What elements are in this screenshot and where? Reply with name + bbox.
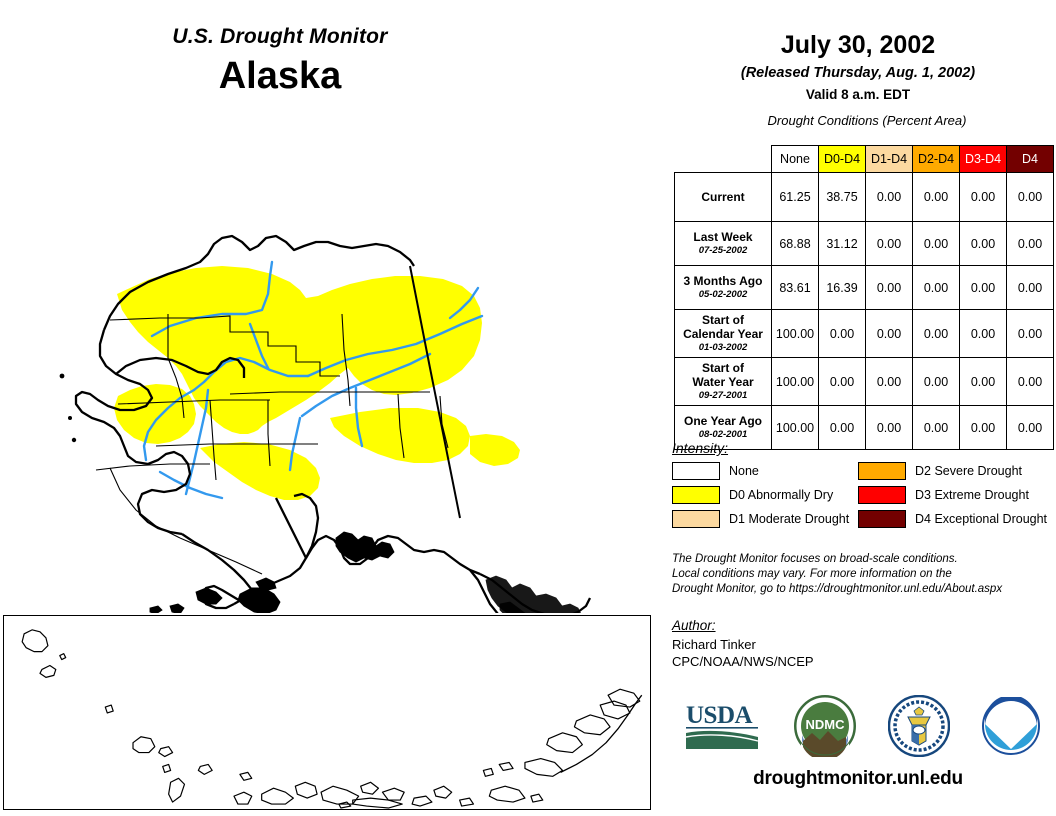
andreanof-2: [240, 772, 252, 780]
amchitka-island: [169, 778, 185, 802]
agattu-island: [40, 665, 56, 677]
cell-none: 100.00: [772, 358, 819, 406]
legend-item-none[interactable]: None: [672, 462, 858, 480]
d0-region-panhandle: [470, 434, 520, 466]
aleutian-islands-map: [4, 616, 650, 809]
cell-none: 83.61: [772, 266, 819, 310]
cell-d4: 0.00: [1007, 266, 1054, 310]
ak-pen-piece-4: [600, 701, 630, 719]
usda-logo: USDA: [684, 697, 762, 755]
table-row: 3 Months Ago05-02-200283.6116.390.000.00…: [675, 266, 1054, 310]
cell-d3-d4: 0.00: [960, 358, 1007, 406]
andreanof-4: [361, 782, 379, 794]
legend-label-d4: D4 Exceptional Drought: [915, 512, 1047, 526]
row-label-line: Current: [677, 190, 769, 204]
row-label-date: 07-25-2002: [677, 245, 769, 257]
fox-dot-2: [339, 802, 351, 808]
near-dot-1: [60, 654, 66, 660]
date-block: July 30, 2002 (Released Thursday, Aug. 1…: [660, 0, 1056, 104]
row-label-line: Water Year: [677, 375, 769, 389]
legend-item-d0[interactable]: D0 Abnormally Dry: [672, 486, 858, 504]
rat-dot-3: [163, 764, 171, 772]
table-row: Current61.2538.750.000.000.000.00: [675, 173, 1054, 222]
pribilof-1: [483, 768, 493, 776]
legend-swatch-d3: [858, 486, 906, 504]
col-header-d4: D4: [1007, 146, 1054, 173]
cell-d4: 0.00: [1007, 173, 1054, 222]
map-norton-islands: [60, 374, 77, 443]
cell-d2-d4: 0.00: [913, 222, 960, 266]
legend-swatch-d2: [858, 462, 906, 480]
row-label: Current: [675, 173, 772, 222]
fox-dot-1: [412, 796, 432, 806]
row-label-date: 01-03-2002: [677, 342, 769, 354]
cell-d1-d4: 0.00: [866, 358, 913, 406]
map-panel: U.S. Drought Monitor Alaska: [0, 0, 660, 816]
ndmc-logo: NDMC: [794, 695, 856, 757]
unimak-island: [489, 786, 525, 802]
table-row: Start ofCalendar Year01-03-2002100.000.0…: [675, 310, 1054, 358]
cell-d3-d4: 0.00: [960, 173, 1007, 222]
noaa-logo: NOAA: [982, 697, 1040, 755]
intensity-legend: Intensity: NoneD2 Severe DroughtD0 Abnor…: [672, 440, 1052, 528]
row-label: Start ofCalendar Year01-03-2002: [675, 310, 772, 358]
kodiak-island: [238, 588, 280, 613]
col-header-none: None: [772, 146, 819, 173]
andreanof-1: [234, 792, 252, 804]
legend-label-none: None: [729, 464, 759, 478]
cell-d2-d4: 0.00: [913, 310, 960, 358]
disclaimer-text: The Drought Monitor focuses on broad-sca…: [672, 552, 1052, 597]
legend-title: Intensity:: [672, 440, 1052, 456]
legend-item-d3[interactable]: D3 Extreme Drought: [858, 486, 1044, 504]
chain-dot-1: [170, 604, 184, 613]
cell-d2-d4: 0.00: [913, 173, 960, 222]
row-label-line: Last Week: [677, 230, 769, 244]
cell-d1-d4: 0.00: [866, 266, 913, 310]
fox-dot-3: [460, 798, 474, 806]
cell-d0-d4: 38.75: [819, 173, 866, 222]
internal-borders-peninsula: [180, 538, 262, 574]
kiska-island: [133, 737, 155, 753]
legend-swatch-none: [672, 462, 720, 480]
d0-region-gulfcoast: [330, 408, 470, 463]
alaska-map[interactable]: [0, 118, 660, 613]
legend-label-d0: D0 Abnormally Dry: [729, 488, 833, 502]
table-row: Start ofWater Year09-27-2001100.000.000.…: [675, 358, 1054, 406]
row-label: 3 Months Ago05-02-2002: [675, 266, 772, 310]
table-row: Last Week07-25-200268.8831.120.000.000.0…: [675, 222, 1054, 266]
agency-logos: USDA NDMC: [668, 692, 1056, 760]
cell-d4: 0.00: [1007, 358, 1054, 406]
map-panhandle-detail: [486, 576, 582, 613]
island-st-lawrence-a: [60, 374, 65, 379]
table-header-row: None D0-D4 D1-D4 D2-D4 D3-D4 D4: [675, 146, 1054, 173]
page-title: U.S. Drought Monitor: [0, 24, 560, 50]
table-body: Current61.2538.750.000.000.000.00Last We…: [675, 173, 1054, 450]
pribilof-2: [499, 762, 513, 770]
row-label-date: 09-27-2001: [677, 390, 769, 402]
coast-kenai: [294, 494, 318, 558]
drought-conditions-table: None D0-D4 D1-D4 D2-D4 D3-D4 D4 Current6…: [674, 145, 1054, 450]
fox-dot-4: [531, 794, 543, 802]
row-label-line: Calendar Year: [677, 327, 769, 341]
rat-dot-4: [198, 764, 212, 774]
cell-d3-d4: 0.00: [960, 310, 1007, 358]
legend-label-d1: D1 Moderate Drought: [729, 512, 849, 526]
col-header-d2: D2-D4: [913, 146, 960, 173]
legend-item-d1[interactable]: D1 Moderate Drought: [672, 510, 858, 528]
rat-dot-2: [159, 747, 173, 757]
row-label-line: 3 Months Ago: [677, 274, 769, 288]
map-title-block: U.S. Drought Monitor Alaska: [0, 24, 560, 100]
svg-text:USDA: USDA: [686, 702, 753, 729]
cell-none: 61.25: [772, 173, 819, 222]
adak-island: [262, 788, 294, 804]
map-drought-areas: [114, 266, 520, 500]
report-date: July 30, 2002: [660, 30, 1056, 60]
legend-swatch-d0: [672, 486, 720, 504]
row-label-line: One Year Ago: [677, 414, 769, 428]
usdc-logo: [888, 695, 950, 757]
cell-d1-d4: 0.00: [866, 310, 913, 358]
disclaimer-line-2: Local conditions may vary. For more info…: [672, 567, 1052, 582]
col-header-d0: D0-D4: [819, 146, 866, 173]
alaska-pen-tip: [196, 588, 222, 604]
legend-swatch-d1: [672, 510, 720, 528]
info-panel: July 30, 2002 (Released Thursday, Aug. 1…: [660, 0, 1056, 816]
col-header-d3: D3-D4: [960, 146, 1007, 173]
island-nunivak: [72, 438, 76, 442]
row-label-line: Start of: [677, 313, 769, 327]
author-block: Author: Richard Tinker CPC/NOAA/NWS/NCEP: [672, 617, 814, 670]
island-st-lawrence-b: [68, 416, 72, 420]
table-caption: Drought Conditions (Percent Area): [660, 113, 1056, 128]
akutan-island: [434, 786, 452, 798]
author-name: Richard Tinker: [672, 636, 814, 653]
cell-d4: 0.00: [1007, 222, 1054, 266]
row-label-line: Start of: [677, 361, 769, 375]
d0-region-southcentral: [200, 442, 320, 500]
attu-island: [22, 630, 48, 652]
cell-d0-d4: 31.12: [819, 222, 866, 266]
aleutian-inset-box[interactable]: [3, 615, 651, 810]
cell-none: 100.00: [772, 310, 819, 358]
row-label-date: 05-02-2002: [677, 289, 769, 301]
table-header: None D0-D4 D1-D4 D2-D4 D3-D4 D4: [675, 146, 1054, 173]
row-label: Last Week07-25-2002: [675, 222, 772, 266]
unalaska-island: [382, 788, 404, 800]
svg-text:NOAA: NOAA: [996, 710, 1026, 721]
coast-cook-inlet: [276, 498, 306, 558]
andreanof-3: [295, 782, 317, 798]
disclaimer-line-3: Drought Monitor, go to https://droughtmo…: [672, 582, 1052, 597]
legend-label-d2: D2 Severe Drought: [915, 464, 1022, 478]
rat-dot-1: [105, 705, 113, 713]
author-title: Author:: [672, 617, 814, 634]
svg-text:NDMC: NDMC: [806, 717, 846, 732]
legend-swatch-d4: [858, 510, 906, 528]
website-url[interactable]: droughtmonitor.unl.edu: [660, 768, 1056, 790]
author-affiliation: CPC/NOAA/NWS/NCEP: [672, 653, 814, 670]
cell-none: 68.88: [772, 222, 819, 266]
cell-d0-d4: 0.00: [819, 310, 866, 358]
state-title: Alaska: [0, 52, 560, 100]
legend-item-d2[interactable]: D2 Severe Drought: [858, 462, 1044, 480]
release-date: (Released Thursday, Aug. 1, 2002): [660, 63, 1056, 83]
cell-d1-d4: 0.00: [866, 222, 913, 266]
cell-d3-d4: 0.00: [960, 222, 1007, 266]
ak-pen-piece-1: [525, 759, 563, 777]
cell-d0-d4: 16.39: [819, 266, 866, 310]
ak-pen-piece-2: [547, 733, 583, 753]
disclaimer-line-1: The Drought Monitor focuses on broad-sca…: [672, 552, 1052, 567]
table-corner-cell: [675, 146, 772, 173]
legend-grid: NoneD2 Severe DroughtD0 Abnormally DryD3…: [672, 462, 1052, 528]
cell-d2-d4: 0.00: [913, 358, 960, 406]
col-header-d1: D1-D4: [866, 146, 913, 173]
valid-time: Valid 8 a.m. EDT: [660, 85, 1056, 104]
legend-label-d3: D3 Extreme Drought: [915, 488, 1029, 502]
chain-dot-2: [150, 606, 162, 613]
cell-d1-d4: 0.00: [866, 173, 913, 222]
cell-d0-d4: 0.00: [819, 358, 866, 406]
legend-item-d4[interactable]: D4 Exceptional Drought: [858, 510, 1044, 528]
cell-d3-d4: 0.00: [960, 266, 1007, 310]
ak-pen-piece-3: [574, 715, 610, 735]
cell-d2-d4: 0.00: [913, 266, 960, 310]
cell-d4: 0.00: [1007, 310, 1054, 358]
row-label: Start ofWater Year09-27-2001: [675, 358, 772, 406]
